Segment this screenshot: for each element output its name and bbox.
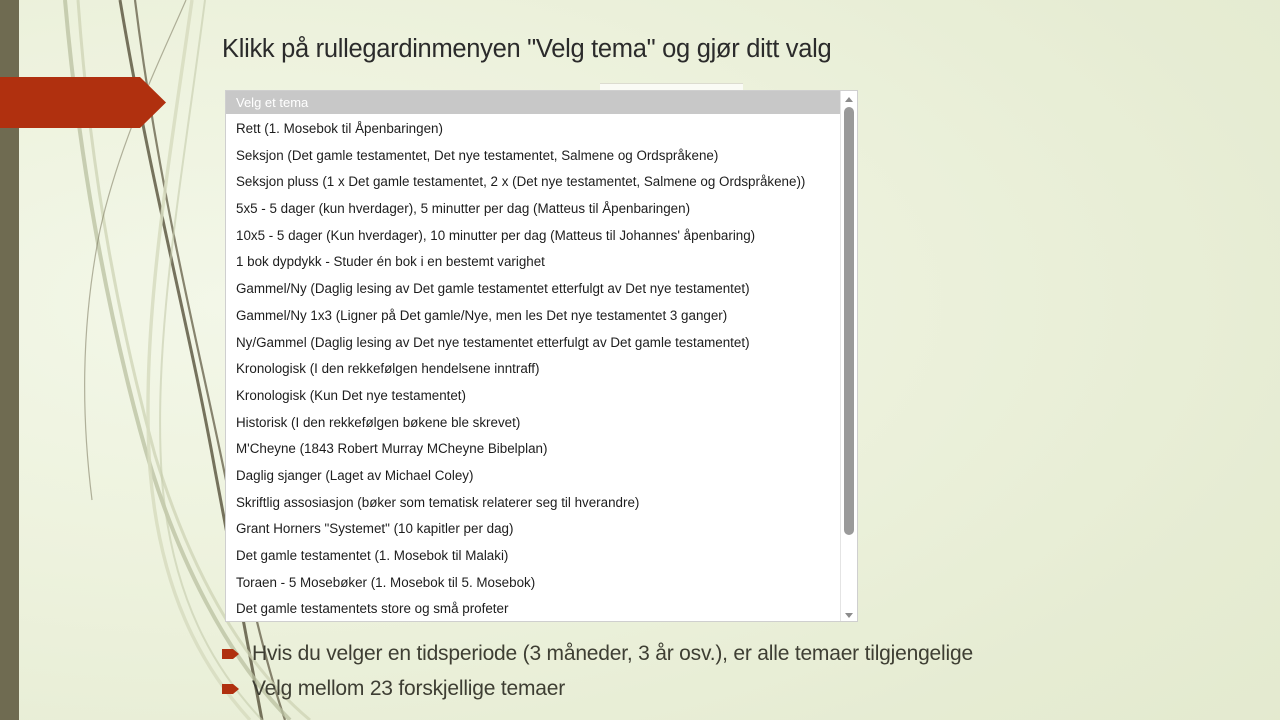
list-item[interactable]: Skriftlig assosiasjon (bøker som tematis… [226,490,857,517]
list-item[interactable]: 10x5 - 5 dager (Kun hverdager), 10 minut… [226,223,857,250]
dropdown-scrollbar[interactable] [840,91,857,622]
list-item[interactable]: 1 bok dypdykk - Studer én bok i en beste… [226,249,857,276]
page-title: Klikk på rullegardinmenyen "Velg tema" o… [222,35,1222,64]
list-item[interactable]: Ny/Gammel (Daglig lesing av Det nye test… [226,330,857,357]
list-item[interactable]: Gammel/Ny 1x3 (Ligner på Det gamle/Nye, … [226,303,857,330]
list-item[interactable]: Toraen - 5 Mosebøker (1. Mosebok til 5. … [226,570,857,597]
list-item[interactable]: Kronologisk (Kun Det nye testamentet) [226,383,857,410]
list-item[interactable]: Rett (1. Mosebok til Åpenbaringen) [226,116,857,143]
scrollbar-thumb[interactable] [844,107,854,535]
list-item: Hvis du velger en tidsperiode (3 måneder… [222,636,1232,671]
list-item: Velg mellom 23 forskjellige temaer [222,671,1232,706]
list-item[interactable]: Gammel/Ny (Daglig lesing av Det gamle te… [226,276,857,303]
list-item[interactable]: Seksjon pluss (1 x Det gamle testamentet… [226,169,857,196]
scroll-down-icon[interactable] [841,608,857,622]
list-item[interactable]: 5x5 - 5 dager (kun hverdager), 5 minutte… [226,196,857,223]
list-item[interactable]: Kronologisk (I den rekkefølgen hendelsen… [226,356,857,383]
bullet-list: Hvis du velger en tidsperiode (3 måneder… [222,636,1232,706]
list-item[interactable]: Det gamle testamentets store og små prof… [226,596,857,622]
list-item[interactable]: Det gamle testamentet (1. Mosebok til Ma… [226,543,857,570]
bullet-text: Velg mellom 23 forskjellige temaer [252,677,565,701]
list-item[interactable]: Seksjon (Det gamle testamentet, Det nye … [226,143,857,170]
scroll-up-icon[interactable] [841,92,857,106]
list-item[interactable]: Daglig sjanger (Laget av Michael Coley) [226,463,857,490]
red-arrow-banner [0,77,167,128]
arrow-bullet-icon [222,683,252,695]
list-item[interactable]: Historisk (I den rekkefølgen bøkene ble … [226,410,857,437]
theme-dropdown-panel[interactable]: Velg et tema Rett (1. Mosebok til Åpenba… [225,90,858,622]
bullet-text: Hvis du velger en tidsperiode (3 måneder… [252,642,973,666]
list-item[interactable]: Grant Horners "Systemet" (10 kapitler pe… [226,516,857,543]
list-item[interactable]: M'Cheyne (1843 Robert Murray MCheyne Bib… [226,436,857,463]
slide-canvas: Klikk på rullegardinmenyen "Velg tema" o… [0,0,1280,720]
arrow-bullet-icon [222,648,252,660]
dropdown-option-list: Rett (1. Mosebok til Åpenbaringen) Seksj… [226,114,857,622]
dropdown-header-selected-value[interactable]: Velg et tema [226,91,857,114]
